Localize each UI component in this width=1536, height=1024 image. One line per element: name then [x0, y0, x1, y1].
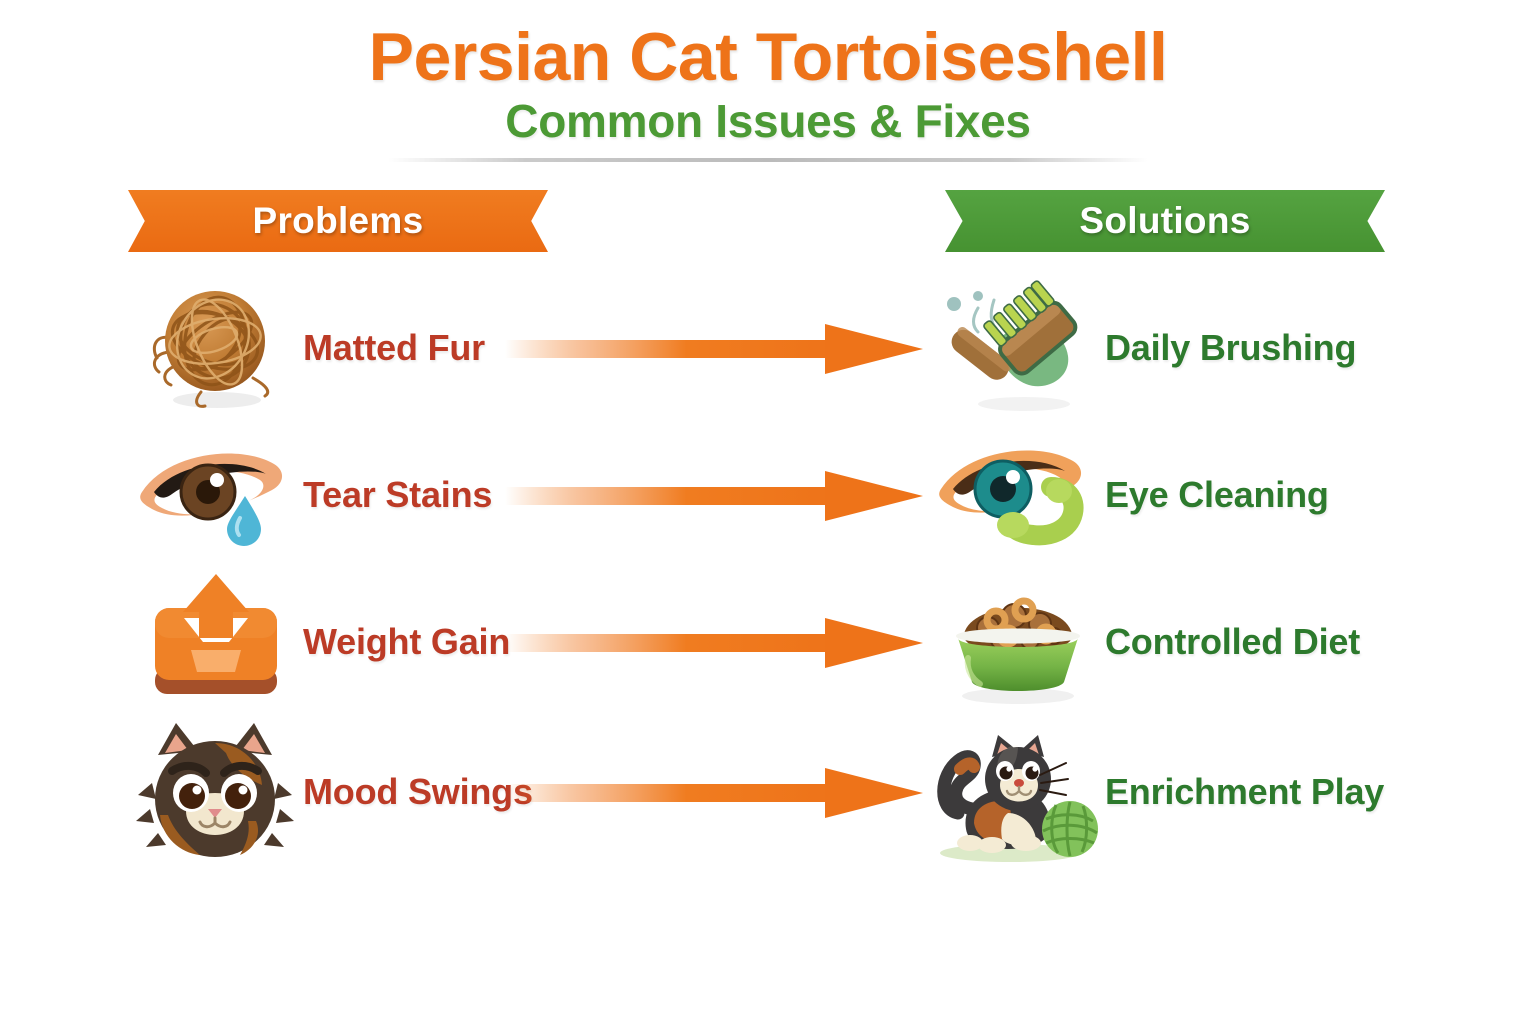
solution-label: Eye Cleaning: [1105, 474, 1329, 516]
problem-item: Mood Swings: [128, 712, 528, 872]
crying-eye-icon: [128, 420, 303, 570]
problems-column-banner: Problems: [128, 190, 548, 252]
problem-label: Matted Fur: [303, 327, 485, 369]
header-divider: [388, 158, 1148, 162]
issue-row: Mood Swings: [0, 712, 1536, 872]
solution-item: Eye Cleaning: [930, 415, 1400, 575]
issue-row: Tear Stains: [0, 415, 1536, 575]
solution-label: Controlled Diet: [1105, 621, 1360, 663]
weight-scale-up-arrow-icon: [128, 567, 303, 717]
solution-label: Daily Brushing: [1105, 327, 1356, 369]
eye-with-swab-icon: [930, 420, 1105, 570]
grumpy-cat-face-icon: [128, 717, 303, 867]
issue-row: Weight Gain: [0, 562, 1536, 722]
page-subtitle: Common Issues & Fixes: [0, 93, 1536, 145]
solution-item: Daily Brushing: [930, 268, 1400, 428]
solutions-column-label: Solutions: [1079, 200, 1250, 242]
problem-item: Tear Stains: [128, 415, 528, 575]
problem-label: Tear Stains: [303, 474, 492, 516]
problems-column-label: Problems: [252, 200, 423, 242]
tangled-fur-ball-icon: [128, 273, 303, 423]
right-arrow-icon: [505, 764, 925, 822]
solution-item: Enrichment Play: [930, 712, 1400, 872]
right-arrow-icon: [505, 320, 925, 378]
pet-food-bowl-icon: [930, 567, 1105, 717]
problem-label: Mood Swings: [303, 771, 533, 813]
problem-item: Matted Fur: [128, 268, 528, 428]
solutions-column-banner: Solutions: [945, 190, 1385, 252]
problem-item: Weight Gain: [128, 562, 528, 722]
solution-label: Enrichment Play: [1105, 771, 1384, 813]
problem-label: Weight Gain: [303, 621, 510, 663]
right-arrow-icon: [505, 467, 925, 525]
hair-brush-icon: [930, 273, 1105, 423]
infographic-header: Persian Cat Tortoiseshell Common Issues …: [0, 0, 1536, 175]
playing-cat-with-yarn-ball-icon: [930, 717, 1105, 867]
solution-item: Controlled Diet: [930, 562, 1400, 722]
issue-row: Matted Fur: [0, 268, 1536, 428]
right-arrow-icon: [505, 614, 925, 672]
page-title: Persian Cat Tortoiseshell: [0, 0, 1536, 93]
